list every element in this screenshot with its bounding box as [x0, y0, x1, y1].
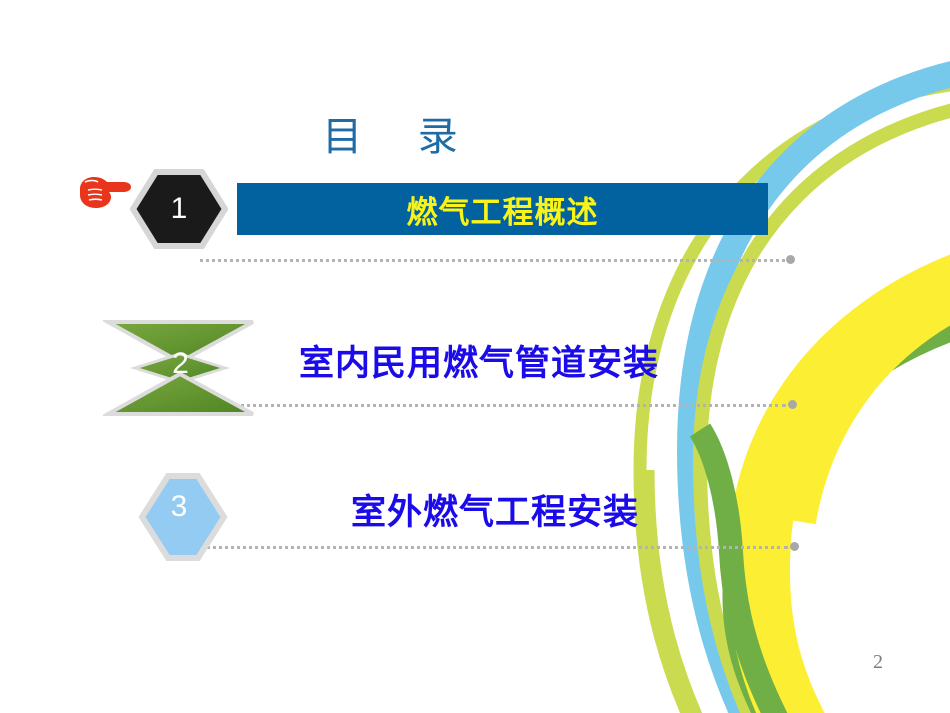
page-number: 2 [873, 651, 883, 674]
connector-dot-3 [790, 542, 799, 551]
toc-item-2-label: 室内民用燃气管道安装 [299, 335, 659, 386]
pointing-hand-icon [73, 168, 135, 216]
arc-green [737, 300, 950, 713]
shape-number-2: 2 [103, 314, 258, 414]
shape-number-1: 1 [130, 169, 228, 249]
connector-line-1 [200, 259, 785, 265]
connector-line-2 [222, 404, 786, 410]
connector-dot-2 [788, 400, 797, 409]
slide-canvas: 目 录 1 燃气工程概述 [0, 0, 950, 713]
connector-dot-1 [786, 255, 795, 264]
arc-light-blue [690, 60, 950, 713]
arc-lime-tail [648, 470, 722, 713]
arc-lime-outer [640, 80, 950, 713]
toc-item-1-label: 燃气工程概述 [237, 183, 768, 235]
shape-number-3: 3 [134, 462, 224, 552]
arc-yellow-thick [759, 250, 950, 713]
shape-hexagon-3-number-wrap: 3 [138, 472, 228, 562]
arc-yellow-inner-edge [790, 250, 950, 520]
toc-item-3-label: 室外燃气工程安装 [351, 484, 639, 535]
shape-bowtie-2-number-wrap: 2 [103, 318, 258, 418]
connector-line-3 [200, 546, 788, 552]
page-title: 目 录 [0, 117, 790, 157]
shape-hexagon-1-number-wrap: 1 [130, 169, 228, 249]
arc-green-stripe [700, 430, 812, 713]
